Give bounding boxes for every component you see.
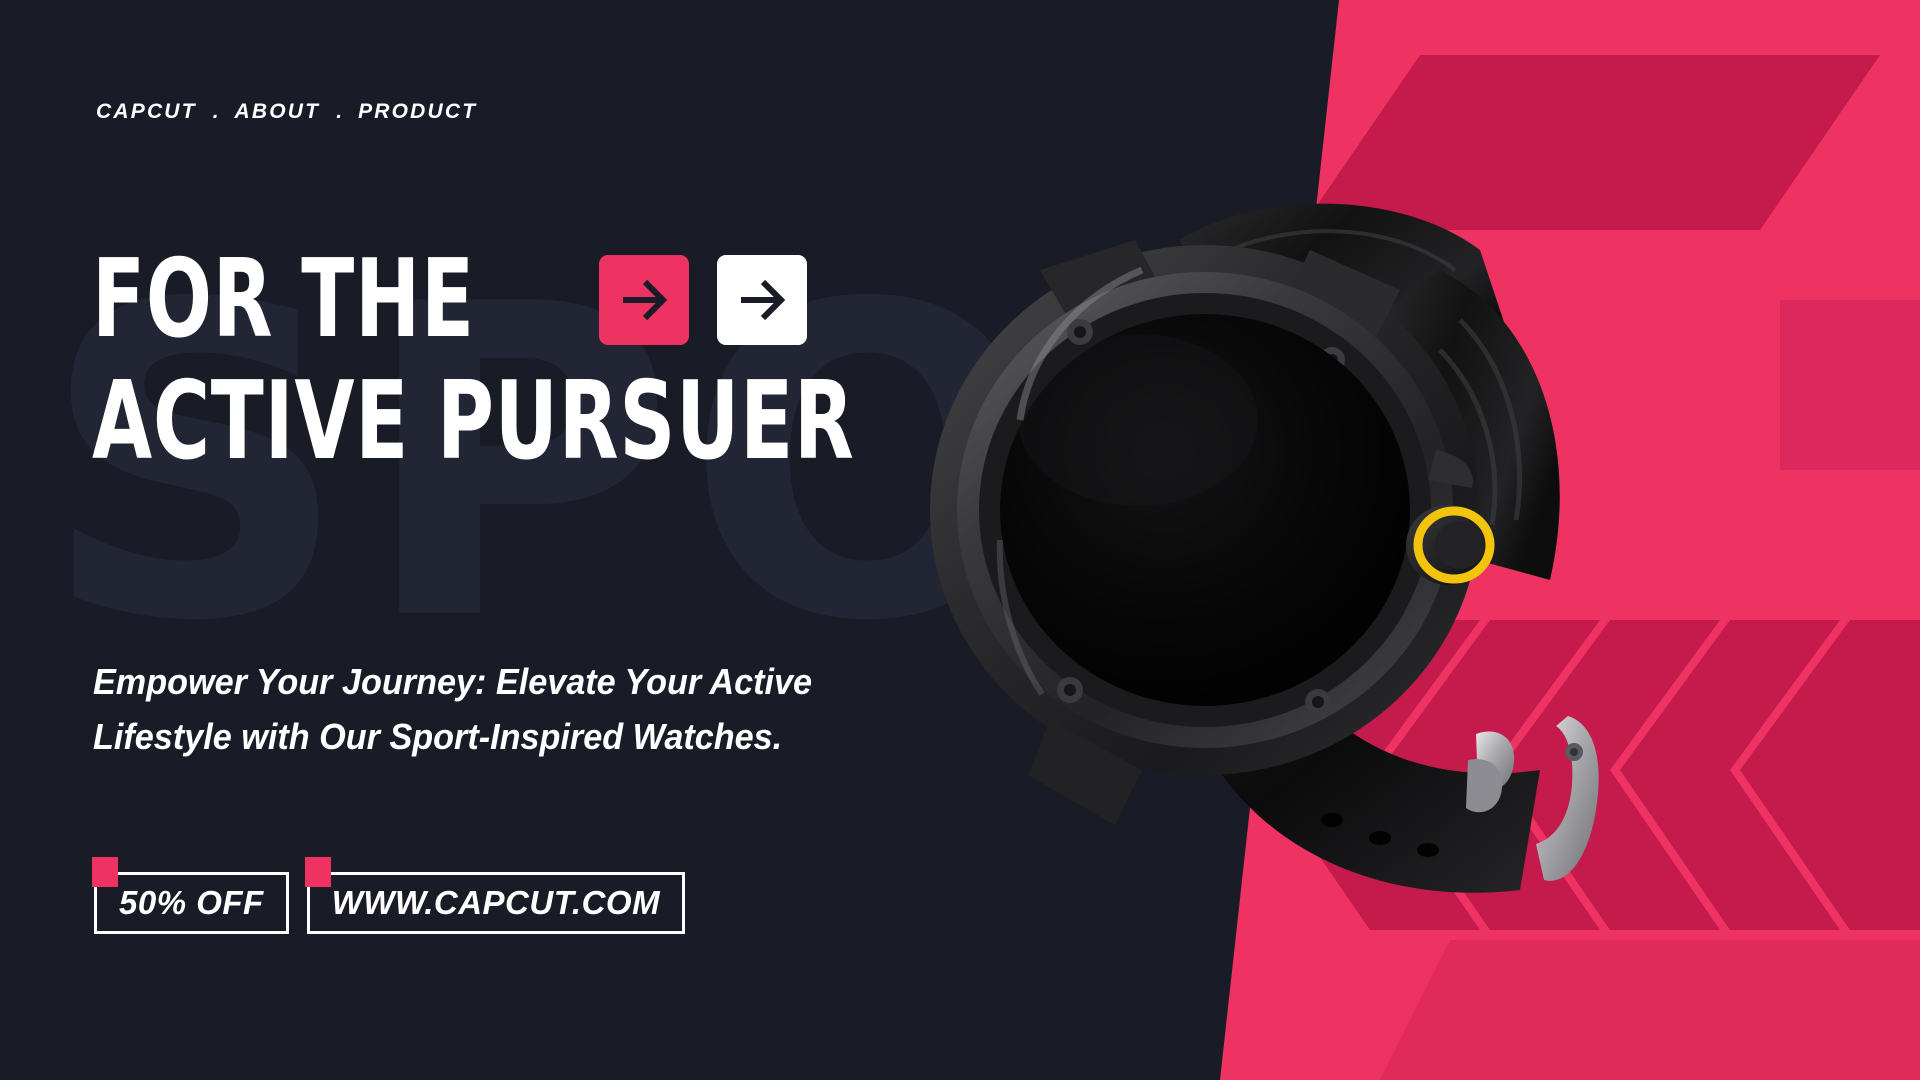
product-image-smartwatch [880, 120, 1640, 950]
promo-banner: SPO [0, 0, 1920, 1080]
secondary-cta-button[interactable] [717, 255, 807, 345]
badge-row: 50% OFF WWW.CAPCUT.COM [94, 872, 685, 934]
headline-line-1: FOR THE [92, 248, 475, 352]
smartwatch-illustration [880, 120, 1640, 950]
website-badge-label: WWW.CAPCUT.COM [332, 884, 660, 922]
nav-separator: . [213, 100, 219, 124]
headline-line-2: ACTIVE PURSUER [92, 368, 855, 476]
subtitle-text: Empower Your Journey: Elevate Your Activ… [93, 655, 815, 764]
nav-item-capcut[interactable]: CAPCUT [96, 100, 197, 124]
badge-accent-square [305, 857, 331, 887]
nav-separator: . [336, 100, 342, 124]
headline-block: FOR THE ACTIVE PURSUER [92, 248, 1045, 476]
discount-badge-wrap: 50% OFF [94, 872, 289, 934]
website-badge-wrap: WWW.CAPCUT.COM [307, 872, 685, 934]
discount-badge-label: 50% OFF [119, 884, 264, 922]
discount-badge[interactable]: 50% OFF [94, 872, 289, 934]
badge-accent-square [92, 857, 118, 887]
top-navigation: CAPCUT . ABOUT . PRODUCT [96, 100, 477, 124]
primary-cta-button[interactable] [599, 255, 689, 345]
nav-item-product[interactable]: PRODUCT [358, 100, 477, 124]
website-badge[interactable]: WWW.CAPCUT.COM [307, 872, 685, 934]
arrow-right-icon [617, 273, 671, 327]
arrow-right-icon [735, 273, 789, 327]
nav-item-about[interactable]: ABOUT [235, 100, 321, 124]
buckle-frame [1536, 716, 1599, 881]
watch-crown-button [1406, 505, 1490, 585]
